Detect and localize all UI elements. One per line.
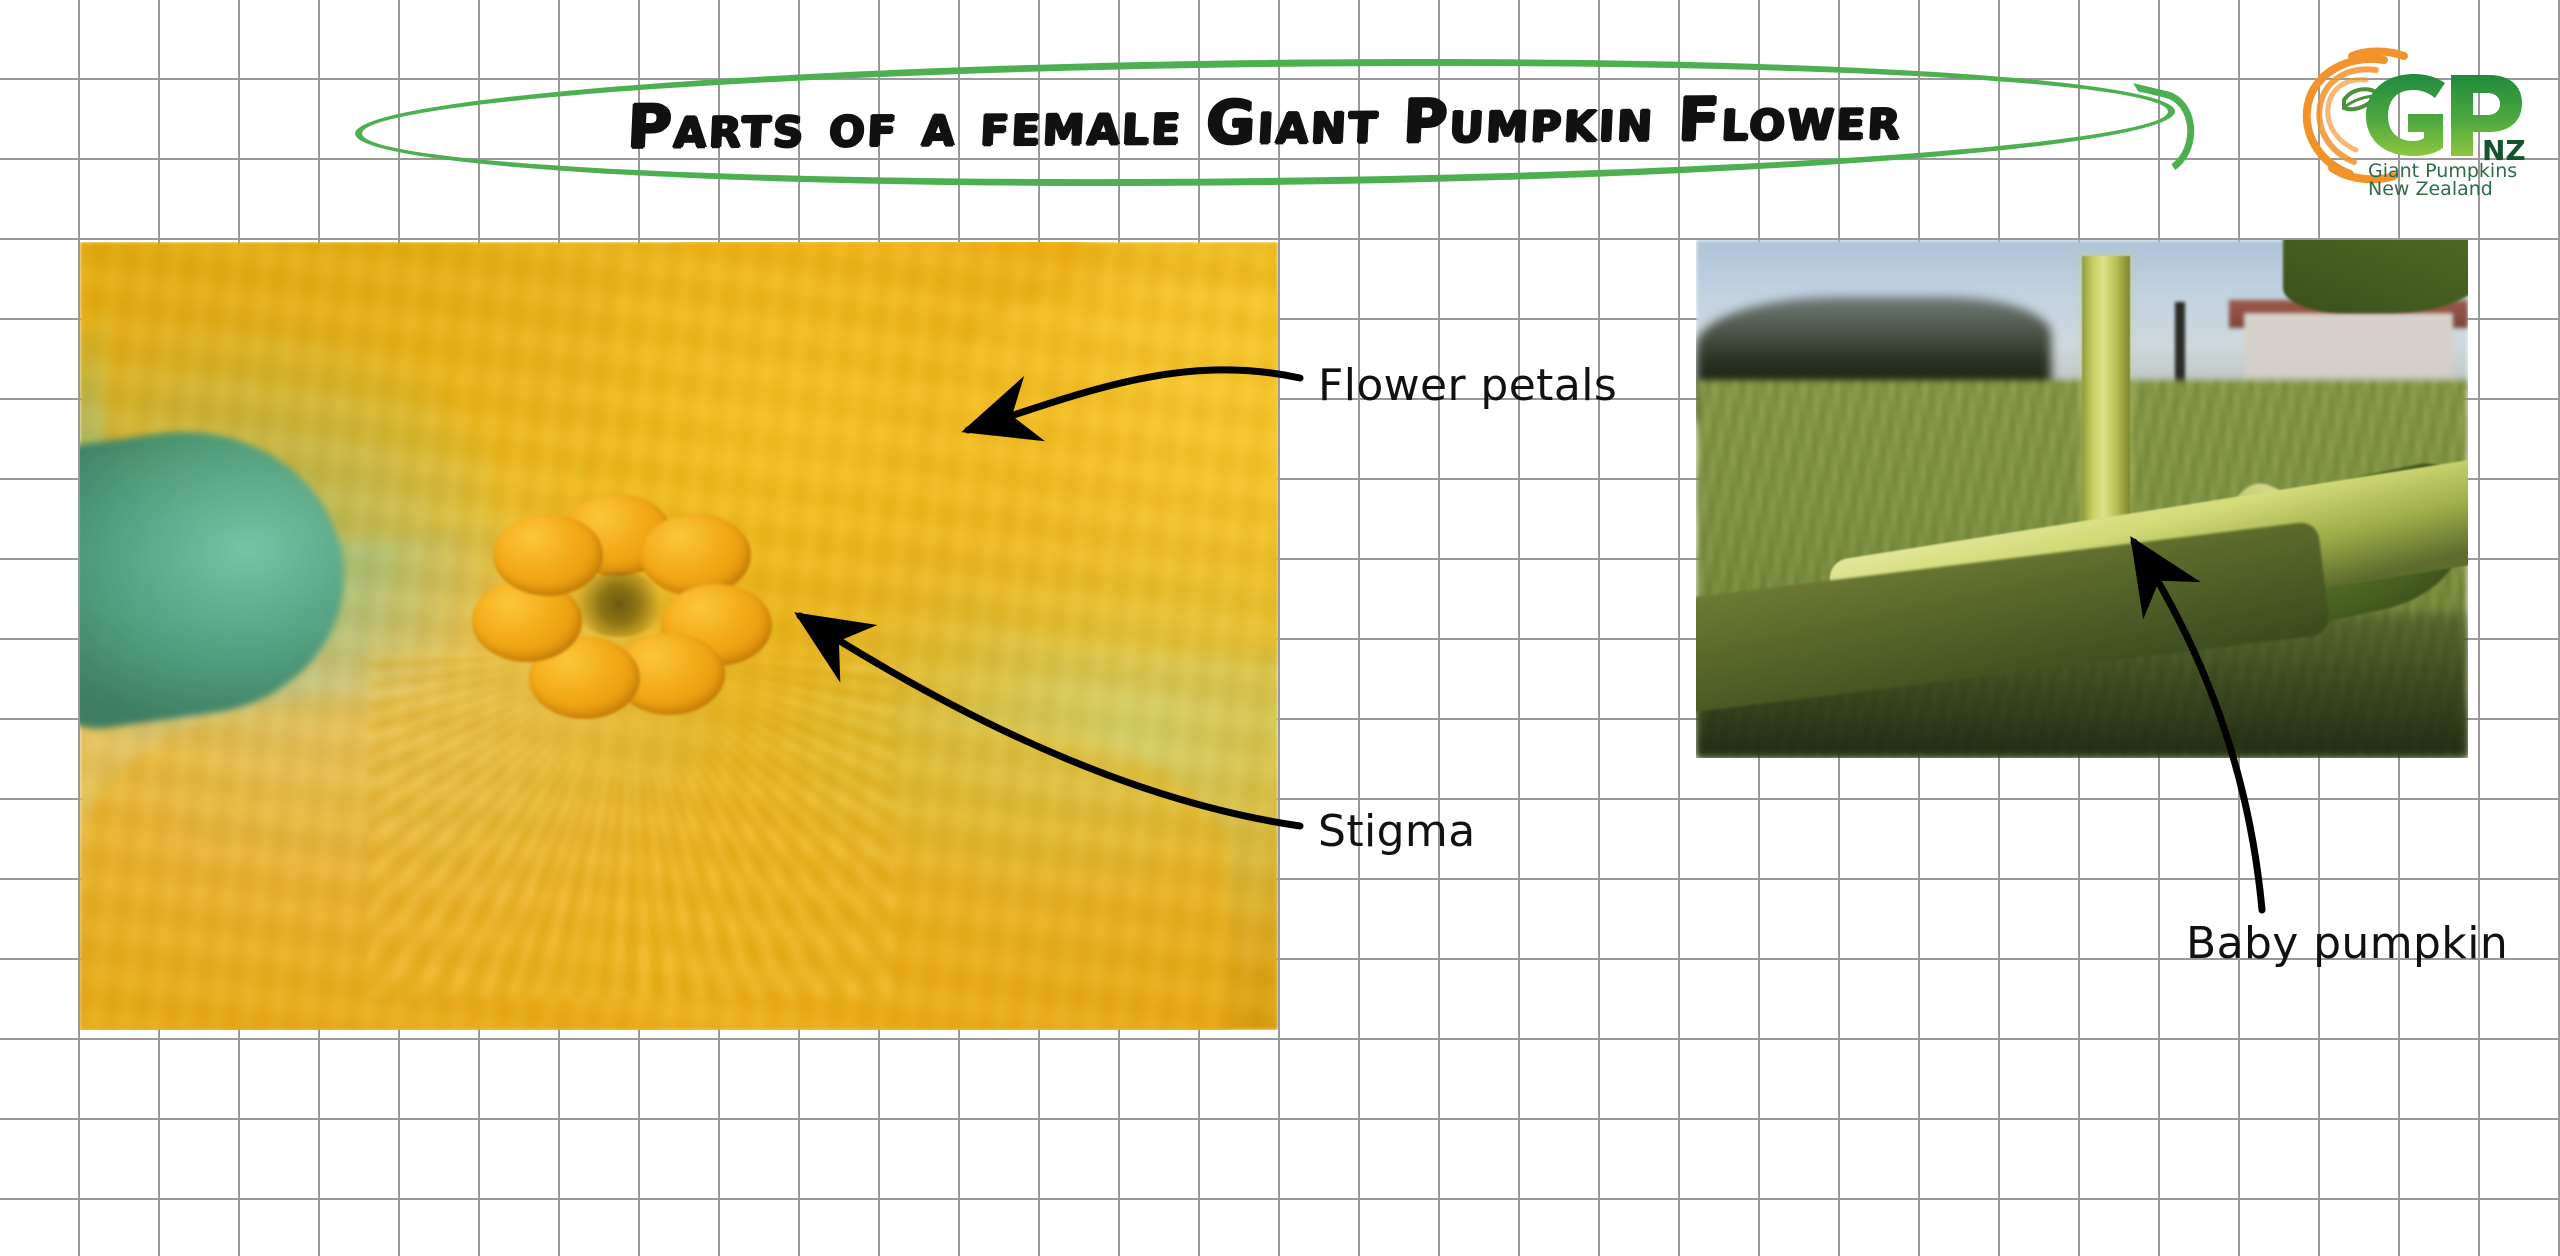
leaf-upper xyxy=(2283,240,2468,313)
label-baby-pumpkin: Baby pumpkin xyxy=(2186,918,2508,969)
page-title: Parts of a female Giant Pumpkin Flower xyxy=(352,54,2178,192)
logo-line2: New Zealand xyxy=(2368,178,2493,198)
gpnz-logo[interactable]: NZ Giant Pumpkins New Zealand xyxy=(2296,38,2544,198)
photo-flower-macro xyxy=(80,242,1278,1030)
title-banner: Parts of a female Giant Pumpkin Flower xyxy=(355,60,2175,185)
label-flower-petals: Flower petals xyxy=(1318,360,1617,411)
label-stigma: Stigma xyxy=(1318,806,1476,857)
photo-vine-baby-pumpkin xyxy=(1696,240,2468,758)
gpnz-logo-svg: NZ Giant Pumpkins New Zealand xyxy=(2296,38,2544,198)
stigma-shape xyxy=(487,502,751,707)
